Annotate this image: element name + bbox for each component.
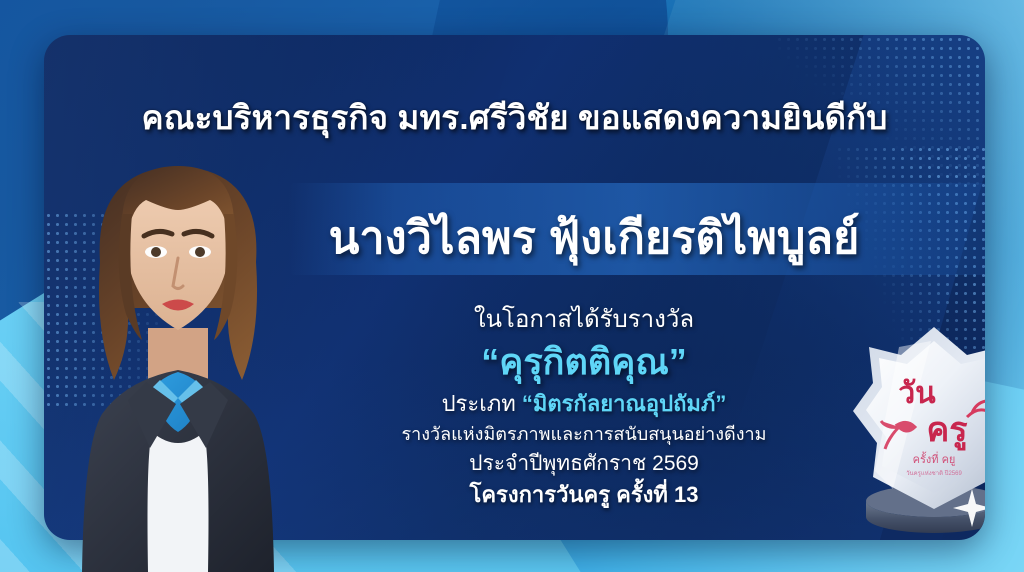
award-occasion-line: ในโอกาสได้รับรางวัล xyxy=(349,303,819,337)
award-details-block: ในโอกาสได้รับรางวัล “คุรุกิตติคุณ” ประเภ… xyxy=(349,303,819,511)
trophy-emblem-sub2: วันครูแห่งชาติ ปี2569 xyxy=(906,469,962,477)
honoree-portrait xyxy=(28,132,328,572)
portrait-iris-left xyxy=(151,247,161,257)
award-year-line: ประจำปีพุทธศักราช 2569 xyxy=(349,448,819,479)
award-category-name: “มิตรกัลยาณอุปถัมภ์” xyxy=(522,391,727,416)
congratulation-banner: คณะบริหารธุรกิจ มทร.ศรีวิชัย ขอแสดงความย… xyxy=(0,0,1024,572)
trophy-emblem-line2: ครู xyxy=(926,411,968,451)
award-project-line: โครงการวันครู ครั้งที่ 13 xyxy=(349,479,819,511)
award-category-line: ประเภท “มิตรกัลยาณอุปถัมภ์” xyxy=(349,387,819,420)
portrait-iris-right xyxy=(195,247,205,257)
award-title: “คุรุกิตติคุณ” xyxy=(349,337,819,387)
trophy-graphic: วัน ครู ครั้งที่ คยู วันครูแห่งชาติ ปี25… xyxy=(839,321,985,536)
trophy-emblem-line1: วัน xyxy=(898,377,936,410)
honoree-name: นางวิไลพร ฟุ้งเกียรติไพบูลย์ xyxy=(244,201,944,273)
trophy-emblem-sub1: ครั้งที่ คยู xyxy=(913,451,956,466)
portrait-shirt-white xyxy=(148,432,209,572)
award-description: รางวัลแห่งมิตรภาพและการสนับสนุนอย่างดีงา… xyxy=(349,420,819,448)
award-category-prefix: ประเภท xyxy=(442,391,522,416)
